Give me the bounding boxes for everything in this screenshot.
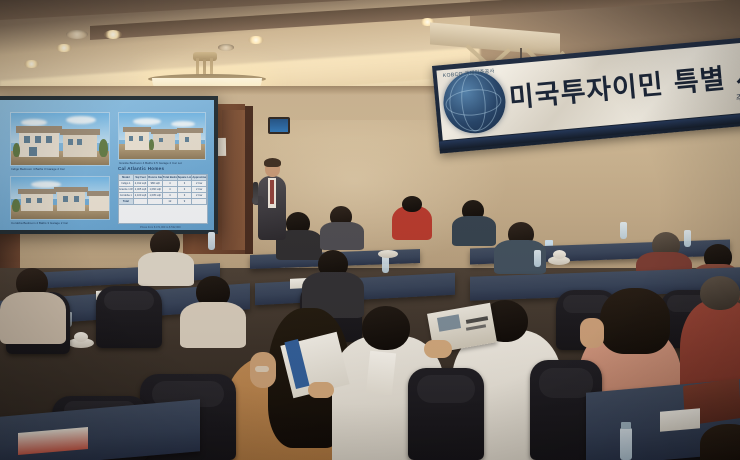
attendee-body (0, 292, 66, 344)
seminar-photo: Indigo Bedroom 4 Baths 3 Garage 2 Car Gr… (0, 0, 740, 460)
downlight-icon (56, 44, 72, 52)
downlight-icon (24, 60, 39, 68)
water-bottle (620, 428, 632, 460)
slide-caption-2: Granite Bedroom 4 Baths 3.5 Garage 2 Car… (119, 161, 207, 165)
slide-table-footer: Prices from $ 471,000 to $ 532,000 (140, 226, 181, 229)
ceiling-speaker-icon (218, 44, 234, 51)
table-cell: 12 (163, 199, 178, 205)
slide-photo-house-2 (118, 112, 206, 160)
bottle-cap (621, 422, 631, 429)
projection-screen: Indigo Bedroom 4 Baths 3 Garage 2 Car Gr… (0, 100, 214, 230)
slide-caption-1: Indigo Bedroom 4 Baths 3 Garage 2 Car (11, 167, 111, 171)
downlight-icon (104, 30, 122, 39)
presenter-hair (264, 158, 281, 167)
banner-title: 미국투자이민 특별 세미 (507, 51, 740, 115)
wristwatch-icon (255, 366, 269, 372)
downlight-icon (248, 36, 264, 44)
table-cell (134, 199, 149, 205)
business-card[interactable] (660, 408, 700, 431)
attendee-arm (580, 318, 604, 348)
water-bottle (534, 250, 541, 267)
saucer (378, 250, 398, 258)
attendee-body (138, 252, 194, 286)
attendee-head (362, 306, 410, 350)
table-cell: 9 (178, 199, 193, 205)
attendee-body (320, 222, 364, 250)
microphone-icon (253, 182, 258, 204)
attendee-body (452, 216, 496, 246)
wood-panel-edge (245, 106, 253, 254)
slide-caption-3: Cordoba Bedroom 4 Baths 3 Garage 2 Car (11, 221, 111, 225)
coffee-cup (74, 332, 88, 342)
attendee-head (700, 276, 740, 310)
slide-data-table: Model Sqr Feet Rooms Garage Total Bedroo… (118, 174, 208, 224)
slide-table-title: Cal Atlantic Homes (118, 166, 210, 171)
table-cell (148, 199, 163, 205)
presenter-tie (270, 180, 274, 204)
attendee-hand (424, 340, 452, 358)
water-bottle (684, 230, 691, 247)
attendee-hair (600, 288, 670, 354)
water-bottle (208, 232, 215, 250)
attendee-hand (308, 382, 334, 398)
banner-subtitle: 주 (735, 91, 740, 105)
napkin (366, 351, 396, 395)
attendee-head (402, 196, 422, 212)
globe-logo-icon (441, 69, 508, 136)
chair[interactable] (408, 368, 484, 460)
water-bottle (620, 222, 627, 239)
coffee-cup (553, 250, 566, 259)
slide-photo-house-3 (10, 176, 110, 220)
exit-sign (268, 117, 290, 134)
attendee-body (180, 302, 246, 348)
table-cell: Total (119, 199, 134, 205)
ceiling-speaker-icon (66, 30, 88, 39)
table-total-row: Total 12 9 (119, 199, 207, 205)
table-cell (192, 199, 207, 205)
chair[interactable] (96, 286, 162, 348)
slide-photo-house-1 (10, 112, 110, 166)
